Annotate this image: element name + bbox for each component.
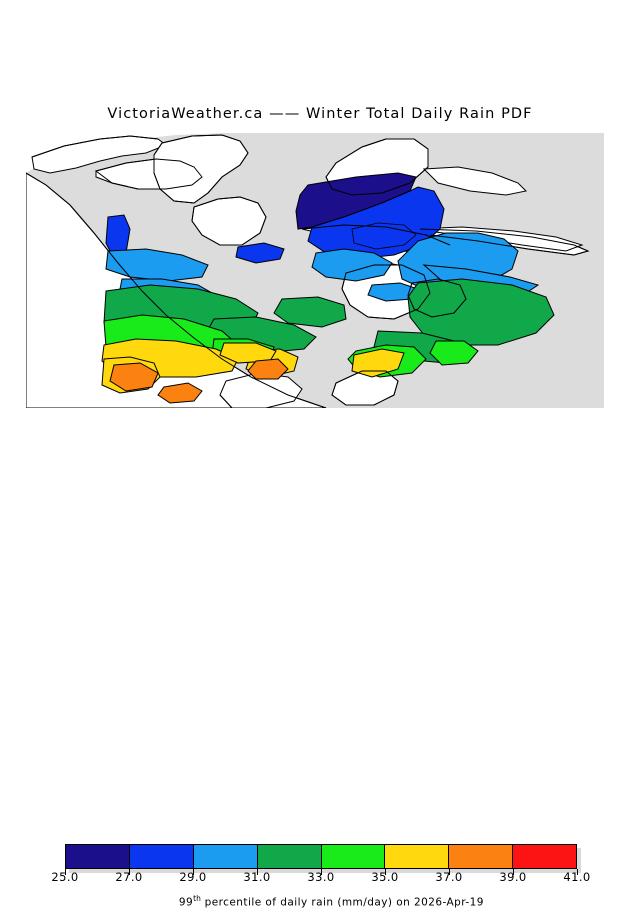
chart-page: VictoriaWeather.ca —— Winter Total Daily… (0, 0, 640, 480)
chart-title: VictoriaWeather.ca —— Winter Total Daily… (0, 106, 640, 122)
colorbar-segment-25-27 (66, 845, 130, 868)
colorbar-segment-31-33 (258, 845, 322, 868)
caption-superscript: th (193, 894, 201, 903)
caption-prefix: 99 (179, 897, 193, 909)
colorbar-segment-39-41 (513, 845, 576, 868)
colorbar-segment-33-35 (322, 845, 386, 868)
map-panel (26, 133, 604, 408)
colorbar: 25.027.029.031.033.035.037.039.041.0 99t… (0, 420, 640, 480)
caption-suffix: percentile of daily rain (mm/day) on 202… (201, 897, 484, 909)
colorbar-segment-29-31 (194, 845, 258, 868)
map-canvas (26, 133, 604, 408)
colorbar-segments (65, 844, 577, 869)
colorbar-caption: 99th percentile of daily rain (mm/day) o… (0, 882, 640, 921)
colorbar-segment-37-39 (449, 845, 513, 868)
colorbar-segment-27-29 (130, 845, 194, 868)
colorbar-segment-35-37 (385, 845, 449, 868)
